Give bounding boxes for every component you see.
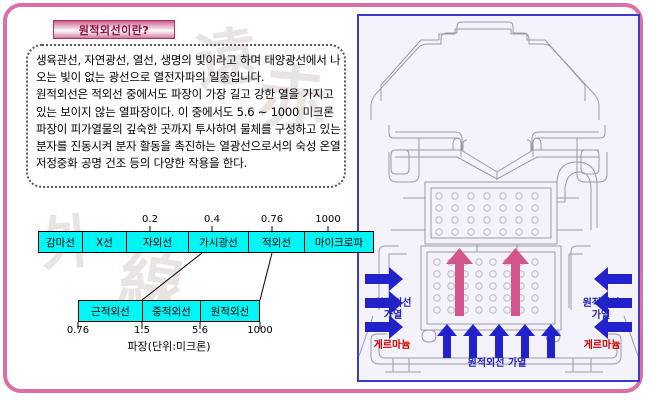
spectrum-segment-gamma: 감마선 [38,231,82,253]
infographic-page: 遠 赤 外 線 원적외선이란? 생육관선, 자연광선, 열선, 생명의 빛이라고… [0,0,650,400]
heating-arrow-right [365,267,403,291]
tick-label: 0.76 [261,214,283,225]
tick-label: 0.76 [67,325,89,336]
perforation-pattern-lower [434,259,538,313]
main-spectrum-tick-labels: 0.2 0.4 0.76 1000 [0,214,650,226]
tick-label: 1000 [247,325,272,336]
spectrum-segment-near-infrared: 근적외선 [78,300,142,322]
label-far-infrared-heating-right: 원적외선 가열 [573,298,629,322]
heat-flow-arrows-pink [446,248,529,316]
label-germanium-right: 게르마늄 [573,340,631,352]
label-far-infrared-heating-bottom: 원적외선 가열 [437,358,557,370]
tick-label: 1.5 [134,325,150,336]
spectrum-segment-ultraviolet: 자외선 [126,231,188,253]
main-spectrum-bar: 감마선 X선 자외선 가시광선 적외선 마이크로파 [38,231,374,253]
tick-label: 0.4 [204,214,220,225]
spectrum-segment-infrared: 적외선 [248,231,304,253]
description-paragraph-1: 생육관선, 자연광선, 열선, 생명의 빛이라고 하며 태양광선에서 나오는 빛… [36,52,344,86]
label-line-1: 원적외선 [573,298,629,310]
spectrum-segment-far-infrared: 원적외선 [200,300,260,322]
label-line-1: 원적외선 [365,298,421,310]
spectrum-segment-microwave: 마이크로파 [304,231,374,253]
heat-flow-arrow-pink [446,248,473,316]
spectrum-segment-xray: X선 [82,231,126,253]
description-paragraph-2: 원적외선은 적외선 중에서도 파장이 가장 길고 강한 열을 가지고 있는 보이… [36,86,344,172]
heating-arrow-left [594,267,632,291]
sub-spectrum-tick-labels: 0.76 1.5 5.6 1000 [0,325,650,337]
tick-label: 5.6 [192,325,208,336]
label-germanium-left: 게르마늄 [363,340,421,352]
tick-label: 0.2 [142,214,158,225]
label-line-2: 가열 [573,310,629,322]
label-far-infrared-heating-left: 원적외선 가열 [365,298,421,322]
description-text: 생육관선, 자연광선, 열선, 생명의 빛이라고 하며 태양광선에서 나오는 빛… [36,52,344,172]
heat-flow-arrow-pink [502,248,529,316]
axis-label-wavelength: 파장(단위:미크론) [78,338,260,354]
spectrum-segment-visible: 가시광선 [188,231,248,253]
tick-label: 1000 [315,214,340,225]
page-title-banner: 원적외선이란? [53,20,175,39]
sub-spectrum-bar: 근적외선 중적외선 원적외선 [78,300,260,322]
page-title: 원적외선이란? [79,22,150,38]
label-line-2: 가열 [365,310,421,322]
spectrum-segment-mid-infrared: 중적외선 [142,300,200,322]
